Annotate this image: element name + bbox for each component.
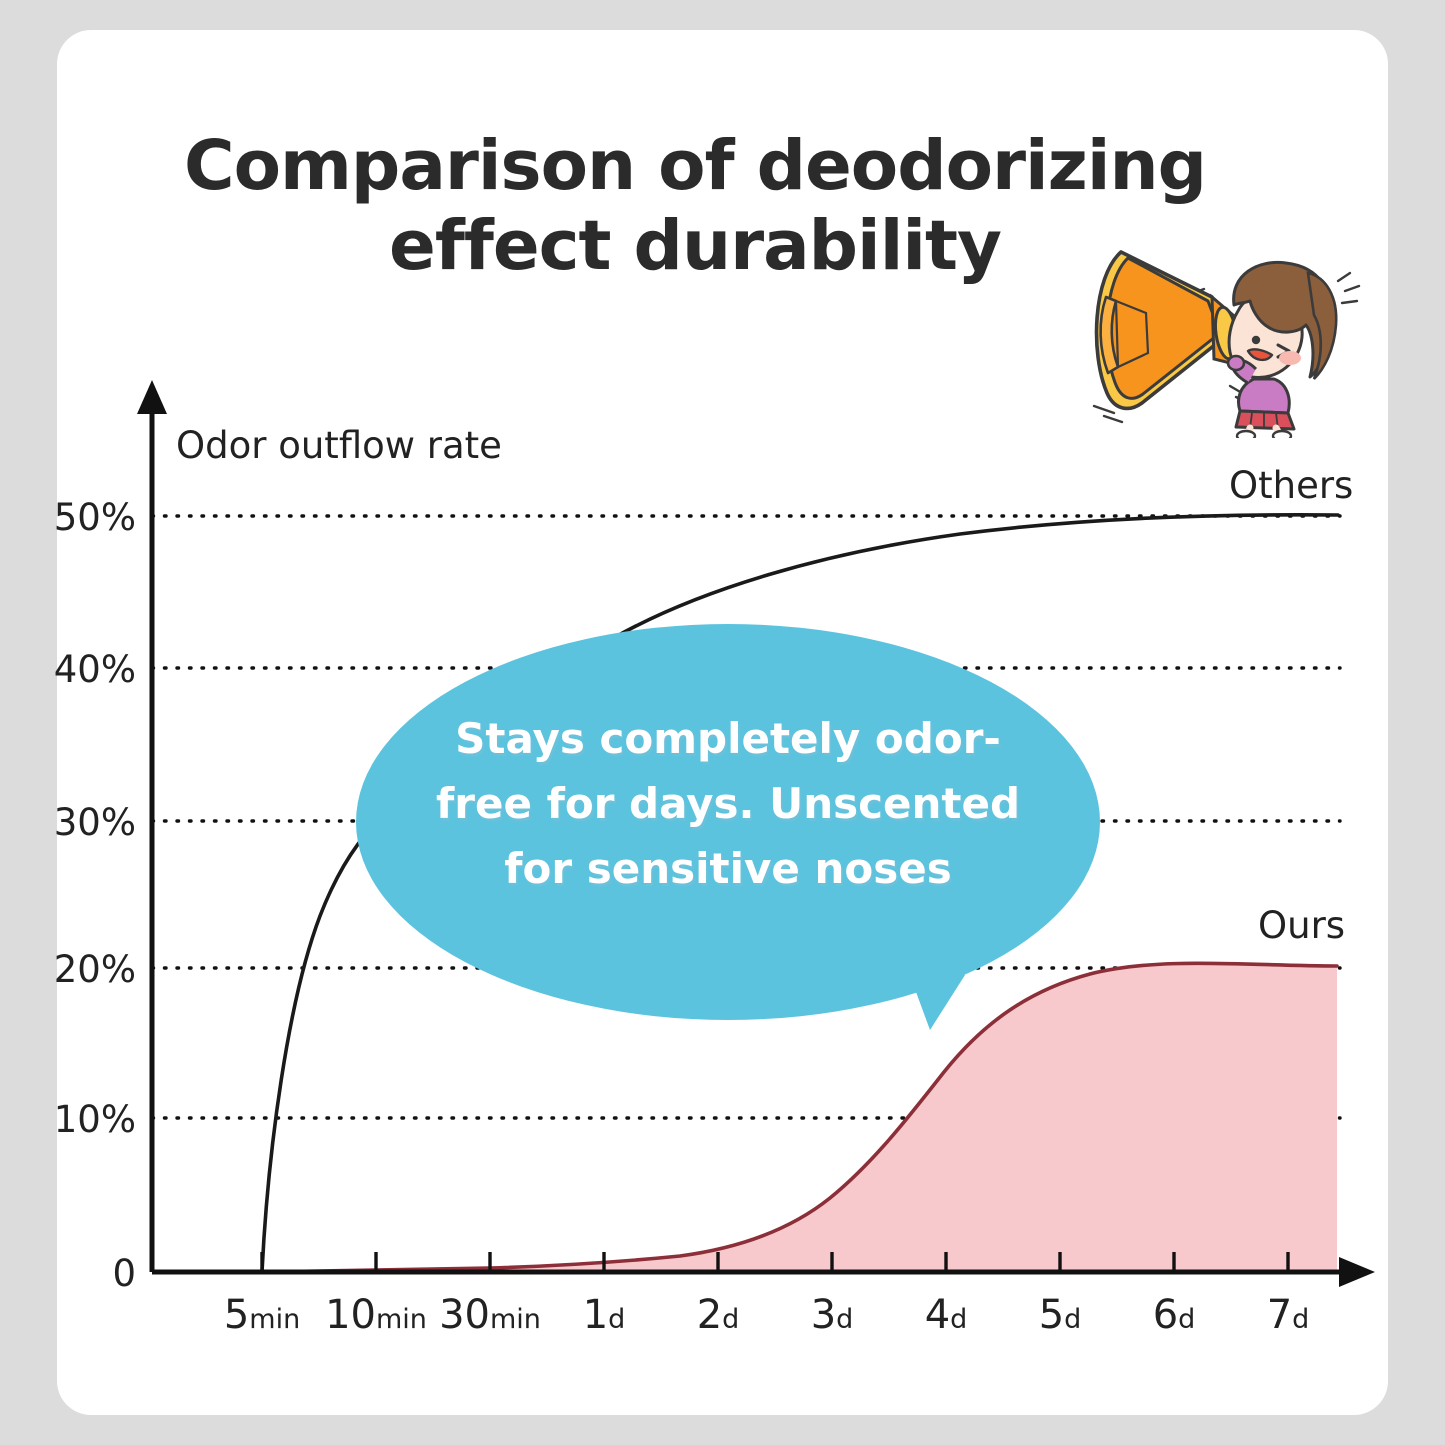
series-label-others: Others: [1229, 464, 1353, 507]
x-tick-value: 30: [439, 1292, 490, 1338]
x-tick-value: 6: [1153, 1292, 1178, 1338]
x-tick-value: 4: [925, 1292, 950, 1338]
callout-text: Stays completely odor- free for days. Un…: [398, 706, 1058, 901]
y-tick-label-30: 30%: [16, 801, 136, 844]
x-tick-value: 5: [224, 1292, 249, 1338]
x-tick-unit: d: [722, 1304, 739, 1335]
y-tick-label-0: 0: [36, 1252, 136, 1295]
x-tick-unit: d: [950, 1304, 967, 1335]
x-axis-arrow: [1339, 1257, 1375, 1287]
x-tick-unit: d: [1064, 1304, 1081, 1335]
x-tick-unit: d: [1292, 1304, 1309, 1335]
x-tick-value: 2: [697, 1292, 722, 1338]
y-tick-label-40: 40%: [16, 648, 136, 691]
y-axis-arrow: [137, 380, 167, 414]
x-tick-value: 10: [325, 1292, 376, 1338]
x-tick-value: 3: [811, 1292, 836, 1338]
x-tick-value: 5: [1039, 1292, 1064, 1338]
y-tick-label-20: 20%: [16, 948, 136, 991]
x-tick-unit: min: [249, 1304, 300, 1335]
x-tick-unit: d: [608, 1304, 625, 1335]
x-tick-unit: d: [1178, 1304, 1195, 1335]
y-tick-label-10: 10%: [16, 1098, 136, 1141]
screenshot-root: Comparison of deodorizing effect durabil…: [0, 0, 1445, 1445]
y-axis-title: Odor outflow rate: [176, 424, 502, 467]
x-tick-value: 1: [583, 1292, 608, 1338]
x-tick-unit: d: [836, 1304, 853, 1335]
x-tick-label-7d: 7d: [1208, 1292, 1368, 1338]
x-tick-value: 7: [1267, 1292, 1292, 1338]
series-label-ours: Ours: [1258, 904, 1345, 947]
y-tick-label-50: 50%: [16, 496, 136, 539]
